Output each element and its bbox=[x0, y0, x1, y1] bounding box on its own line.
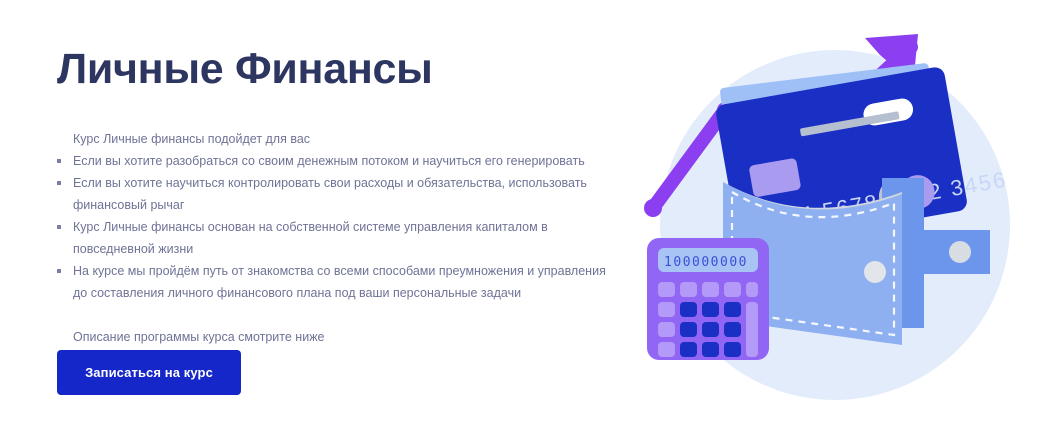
bullet-square-icon bbox=[57, 159, 61, 163]
list-item-label: Если вы хотите разобраться со своим дене… bbox=[73, 154, 585, 168]
list-item: Если вы хотите разобраться со своим дене… bbox=[57, 150, 622, 172]
list-item: Курс Личные финансы основан на собственн… bbox=[57, 216, 622, 260]
benefits-list: Если вы хотите разобраться со своим дене… bbox=[57, 150, 622, 304]
hero-section: Личные Финансы Курс Личные финансы подой… bbox=[0, 0, 1054, 426]
list-item-label: На курсе мы пройдём путь от знакомства с… bbox=[73, 264, 606, 300]
list-item-label: Если вы хотите научиться контролировать … bbox=[73, 176, 587, 212]
intro-line: Курс Личные финансы подойдет для вас bbox=[57, 128, 622, 150]
course-description: Курс Личные финансы подойдет для вас Есл… bbox=[57, 128, 622, 348]
bullet-square-icon bbox=[57, 181, 61, 185]
list-item-label: Курс Личные финансы основан на собственн… bbox=[73, 220, 548, 256]
page-title: Личные Финансы bbox=[57, 46, 433, 93]
wallet-snap-button bbox=[864, 261, 886, 283]
personal-finance-illustration: 1234 5678 9012 3456 1 bbox=[620, 0, 1054, 426]
outro-line: Описание программы курса смотрите ниже bbox=[57, 326, 622, 348]
calculator: 100000000 bbox=[647, 238, 769, 360]
calculator-display: 100000000 bbox=[664, 255, 748, 270]
enroll-button[interactable]: Записаться на курс bbox=[57, 350, 241, 395]
list-item: На курсе мы пройдём путь от знакомства с… bbox=[57, 260, 622, 304]
list-item: Если вы хотите научиться контролировать … bbox=[57, 172, 622, 216]
bullet-square-icon bbox=[57, 225, 61, 229]
bullet-square-icon bbox=[57, 269, 61, 273]
hero-text-column: Личные Финансы Курс Личные финансы подой… bbox=[57, 0, 627, 426]
wallet-strap-snap bbox=[949, 241, 971, 263]
